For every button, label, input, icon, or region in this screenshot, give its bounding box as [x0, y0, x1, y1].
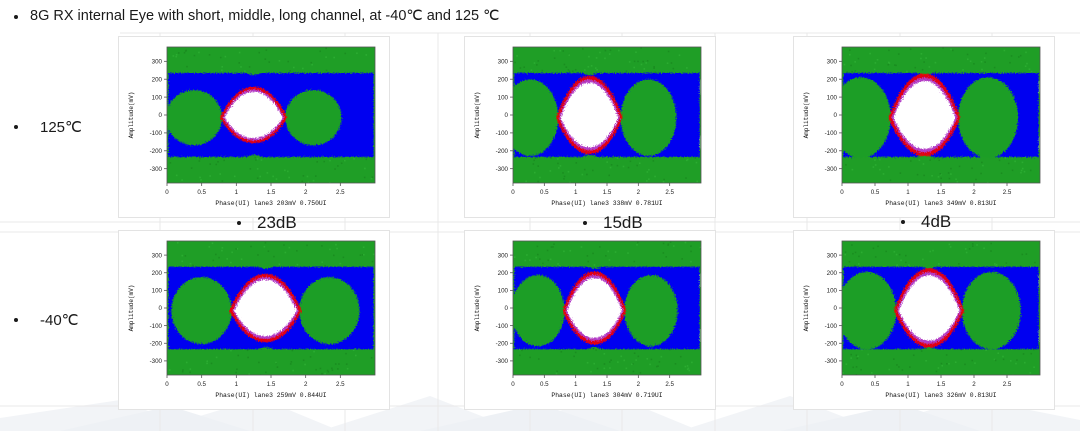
- plot-caption: Phase(UI) lane3 326mV 0.813UI: [885, 392, 996, 399]
- row-label-minus40c-text: -40℃: [40, 311, 79, 329]
- x-tick-label: 0.5: [540, 189, 549, 196]
- y-tick-label: 100: [498, 288, 509, 295]
- y-tick-label: 0: [505, 112, 509, 119]
- col-label-4db-text: 4dB: [921, 212, 951, 232]
- x-tick-label: 0.5: [871, 189, 880, 196]
- y-tick-label: -100: [496, 323, 509, 330]
- x-tick-label: 0.5: [197, 189, 206, 196]
- x-tick-label: 0.5: [197, 381, 206, 388]
- y-tick-label: 300: [152, 252, 163, 259]
- y-tick-label: 100: [152, 288, 163, 295]
- y-tick-label: 100: [152, 94, 163, 101]
- y-tick-label: 300: [827, 59, 838, 66]
- x-tick-label: 0: [165, 381, 169, 388]
- x-tick-label: 2.5: [336, 189, 345, 196]
- eye-diagram-plot: 00.511.522.53002001000-100-200-300Amplit…: [794, 37, 1054, 217]
- x-tick-label: 2.5: [336, 381, 345, 388]
- y-tick-label: -300: [825, 166, 838, 173]
- slide-title-text: 8G RX internal Eye with short, middle, l…: [30, 6, 499, 26]
- x-tick-label: 0: [165, 189, 169, 196]
- x-tick-label: 2: [637, 381, 641, 388]
- x-tick-label: 0: [511, 189, 515, 196]
- x-tick-label: 2.5: [1003, 189, 1012, 196]
- x-tick-label: 1.5: [937, 381, 946, 388]
- x-tick-label: 0.5: [540, 381, 549, 388]
- eye-diagram-panel-125c-4db[interactable]: 00.511.522.53002001000-100-200-300Amplit…: [793, 36, 1055, 218]
- bullet-icon: [583, 221, 587, 225]
- y-tick-label: -100: [825, 130, 838, 137]
- y-axis-title: Amplitude(mV): [803, 285, 810, 332]
- x-tick-label: 1: [906, 189, 910, 196]
- x-tick-label: 2: [972, 381, 976, 388]
- y-tick-label: 300: [498, 252, 509, 259]
- y-tick-label: -200: [150, 148, 163, 155]
- x-tick-label: 2.5: [665, 381, 674, 388]
- x-tick-label: 2.5: [665, 189, 674, 196]
- y-tick-label: -100: [150, 323, 163, 330]
- x-tick-label: 1: [906, 381, 910, 388]
- y-tick-label: -300: [496, 358, 509, 365]
- y-tick-label: 200: [152, 76, 163, 83]
- y-tick-label: 300: [152, 59, 163, 66]
- x-tick-label: 1: [235, 189, 239, 196]
- plot-caption: Phase(UI) lane3 338mV 0.781UI: [551, 200, 662, 207]
- eye-diagram-panel-125c-23db[interactable]: 00.511.522.53002001000-100-200-300Amplit…: [118, 36, 390, 218]
- plot-caption: Phase(UI) lane3 304mV 0.719UI: [551, 392, 662, 399]
- x-tick-label: 1: [574, 381, 578, 388]
- x-tick-label: 1.5: [937, 189, 946, 196]
- col-label-15db: 15dB: [583, 213, 643, 233]
- eye-diagram-panel-minus40c-23db[interactable]: 00.511.522.53002001000-100-200-300Amplit…: [118, 230, 390, 410]
- y-tick-label: 0: [159, 305, 163, 312]
- y-tick-label: 200: [152, 270, 163, 277]
- y-tick-label: -300: [496, 166, 509, 173]
- eye-diagram-panel-125c-15db[interactable]: 00.511.522.53002001000-100-200-300Amplit…: [464, 36, 716, 218]
- row-label-125c: 125℃: [14, 118, 82, 136]
- y-tick-label: 0: [159, 112, 163, 119]
- x-tick-label: 0: [511, 381, 515, 388]
- x-tick-label: 0: [840, 189, 844, 196]
- y-tick-label: -300: [150, 166, 163, 173]
- x-tick-label: 0.5: [871, 381, 880, 388]
- col-label-23db: 23dB: [237, 213, 297, 233]
- x-tick-label: 1.5: [267, 189, 276, 196]
- row-label-125c-text: 125℃: [40, 118, 82, 136]
- y-tick-label: 300: [827, 252, 838, 259]
- x-tick-label: 2.5: [1003, 381, 1012, 388]
- y-tick-label: -100: [150, 130, 163, 137]
- y-tick-label: -300: [825, 358, 838, 365]
- y-tick-label: 100: [827, 288, 838, 295]
- y-tick-label: 200: [827, 270, 838, 277]
- col-label-15db-text: 15dB: [603, 213, 643, 233]
- y-tick-label: -200: [825, 148, 838, 155]
- y-axis-title: Amplitude(mV): [474, 285, 481, 332]
- y-tick-label: 200: [498, 76, 509, 83]
- y-tick-label: 0: [505, 305, 509, 312]
- y-tick-label: 100: [498, 94, 509, 101]
- col-label-23db-text: 23dB: [257, 213, 297, 233]
- eye-diagram-plot: 00.511.522.53002001000-100-200-300Amplit…: [794, 231, 1054, 409]
- y-tick-label: -200: [150, 340, 163, 347]
- x-tick-label: 0: [840, 381, 844, 388]
- x-tick-label: 2: [637, 189, 641, 196]
- y-tick-label: -100: [496, 130, 509, 137]
- eye-diagram-plot: 00.511.522.53002001000-100-200-300Amplit…: [465, 37, 715, 217]
- y-tick-label: -200: [825, 340, 838, 347]
- y-axis-title: Amplitude(mV): [803, 92, 810, 139]
- x-tick-label: 2: [304, 189, 308, 196]
- x-tick-label: 1.5: [267, 381, 276, 388]
- slide-title: 8G RX internal Eye with short, middle, l…: [14, 6, 499, 26]
- y-tick-label: 300: [498, 59, 509, 66]
- y-tick-label: -200: [496, 148, 509, 155]
- x-tick-label: 1.5: [603, 381, 612, 388]
- y-tick-label: 200: [827, 76, 838, 83]
- y-tick-label: 0: [834, 112, 838, 119]
- x-tick-label: 2: [304, 381, 308, 388]
- eye-diagram-panel-minus40c-4db[interactable]: 00.511.522.53002001000-100-200-300Amplit…: [793, 230, 1055, 410]
- plot-caption: Phase(UI) lane3 349mV 0.813UI: [885, 200, 996, 207]
- x-tick-label: 1.5: [603, 189, 612, 196]
- y-tick-label: -300: [150, 358, 163, 365]
- col-label-4db: 4dB: [901, 212, 951, 232]
- bullet-icon: [237, 221, 241, 225]
- bullet-icon: [14, 15, 18, 19]
- y-axis-title: Amplitude(mV): [128, 92, 135, 139]
- y-axis-title: Amplitude(mV): [128, 285, 135, 332]
- x-tick-label: 1: [235, 381, 239, 388]
- bullet-icon: [14, 318, 18, 322]
- y-axis-title: Amplitude(mV): [474, 92, 481, 139]
- y-tick-label: 100: [827, 94, 838, 101]
- bullet-icon: [901, 220, 905, 224]
- eye-diagram-plot: 00.511.522.53002001000-100-200-300Amplit…: [465, 231, 715, 409]
- x-tick-label: 2: [972, 189, 976, 196]
- eye-diagram-panel-minus40c-15db[interactable]: 00.511.522.53002001000-100-200-300Amplit…: [464, 230, 716, 410]
- eye-diagram-plot: 00.511.522.53002001000-100-200-300Amplit…: [119, 37, 389, 217]
- bullet-icon: [14, 125, 18, 129]
- eye-diagram-plot: 00.511.522.53002001000-100-200-300Amplit…: [119, 231, 389, 409]
- y-tick-label: 0: [834, 305, 838, 312]
- plot-caption: Phase(UI) lane3 259mV 0.844UI: [215, 392, 326, 399]
- y-tick-label: 200: [498, 270, 509, 277]
- y-tick-label: -200: [496, 340, 509, 347]
- row-label-minus40c: -40℃: [14, 311, 79, 329]
- x-tick-label: 1: [574, 189, 578, 196]
- plot-caption: Phase(UI) lane3 203mV 0.750UI: [215, 200, 326, 207]
- y-tick-label: -100: [825, 323, 838, 330]
